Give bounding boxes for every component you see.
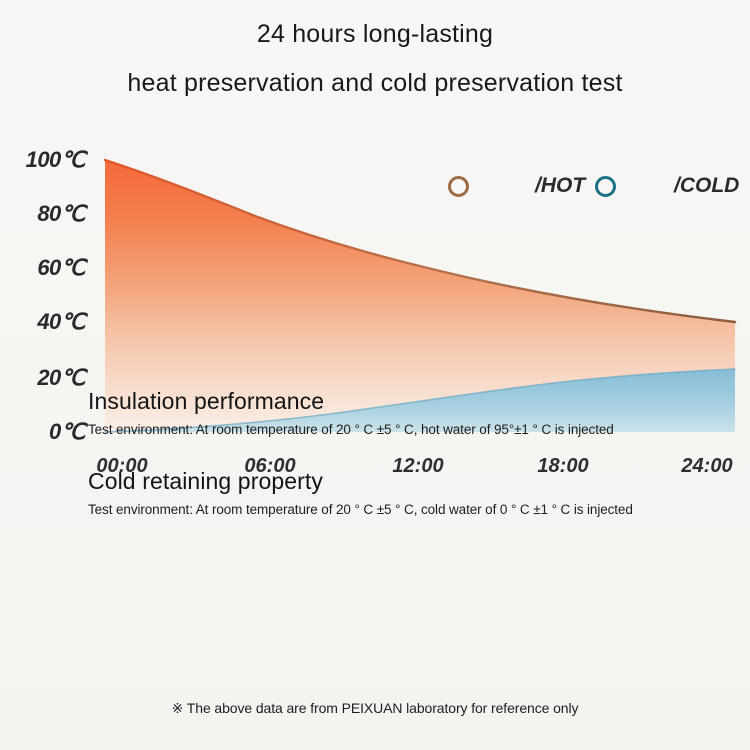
section-detail: Test environment: At room temperature of…	[88, 502, 708, 517]
title-line-1: 24 hours long-lasting	[0, 14, 750, 54]
legend-label-cold: /COLD	[674, 174, 739, 198]
page-title: 24 hours long-lasting heat preservation …	[0, 14, 750, 103]
section-cold-retaining-property: Cold retaining property Test environment…	[88, 468, 708, 517]
y-tick-40: 40℃	[37, 309, 85, 335]
y-tick-80: 80℃	[37, 201, 85, 227]
y-tick-100: 100℃	[26, 147, 85, 173]
y-axis: 100℃ 80℃ 60℃ 40℃ 20℃ 0℃	[0, 130, 95, 460]
legend-item-hot[interactable]: /HOT	[448, 174, 585, 198]
poster-root: 24 hours long-lasting heat preservation …	[0, 0, 750, 750]
section-heading: Cold retaining property	[88, 468, 708, 495]
title-line-2: heat preservation and cold preservation …	[0, 63, 750, 103]
y-tick-20: 20℃	[37, 365, 85, 391]
y-tick-0: 0℃	[49, 419, 85, 445]
circle-marker-hot-icon	[448, 176, 469, 197]
footer-disclaimer: ※ The above data are from PEIXUAN labora…	[0, 700, 750, 717]
y-tick-60: 60℃	[37, 255, 85, 281]
circle-marker-cold-icon	[595, 176, 616, 197]
legend-item-cold[interactable]: /COLD	[595, 174, 739, 198]
section-heading: Insulation performance	[88, 388, 708, 415]
legend-label-hot: /HOT	[535, 174, 585, 198]
section-insulation-performance: Insulation performance Test environment:…	[88, 388, 708, 437]
section-detail: Test environment: At room temperature of…	[88, 422, 708, 437]
chart-legend: /HOT /COLD	[440, 174, 740, 214]
